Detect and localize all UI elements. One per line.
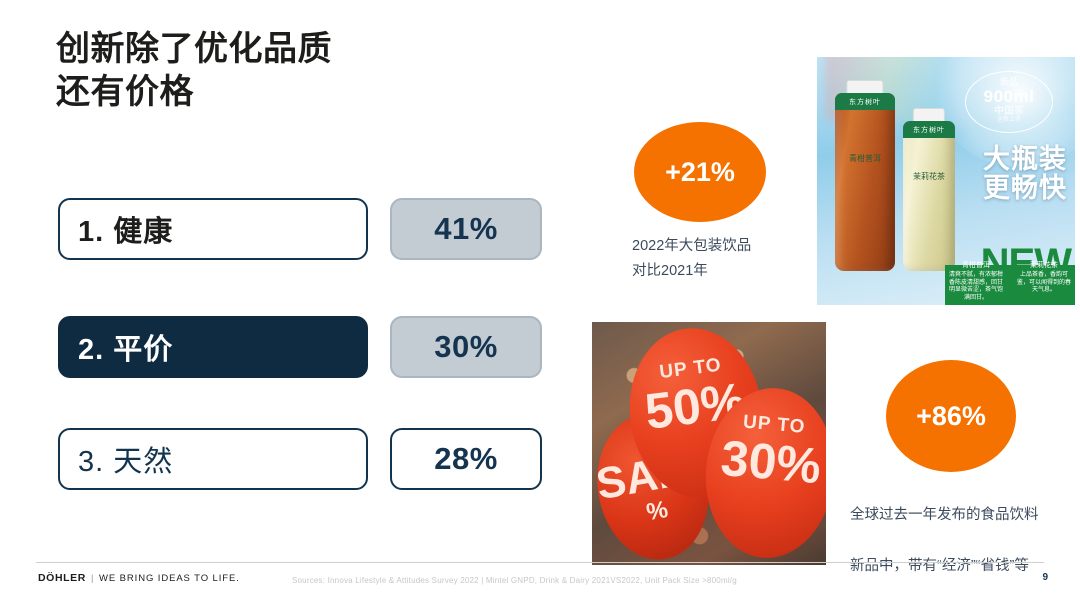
stat-badge-plus86-value: +86% (916, 401, 986, 432)
bottle-cap-icon (846, 80, 883, 94)
tea-footnote-b: 茉莉花茶 上品茶香，香韵可鉴，可以闻得到的春天气息。 (1017, 261, 1071, 303)
bottle-large-pu-erh: 东方树叶 青柑普洱 (835, 93, 895, 271)
tea-footnote-a-title: 青柑普洱 (949, 261, 1003, 270)
tea-badge-volume: 900ml (966, 87, 1052, 106)
tea-footnote-a-text: 清爽不腻，有浓郁柑香陈皮清甜感，回甘明显微苦涩，茶气饱满回甘。 (949, 272, 1003, 303)
bottle-cap-icon (913, 108, 945, 122)
tea-footnote-b-text: 上品茶香，香韵可鉴，可以闻得到的春天气息。 (1017, 272, 1071, 295)
ranking-label-3[interactable]: 3. 天然 (58, 428, 368, 490)
tea-volume-badge: 新品 900ml 中国茶 全新上市 (965, 71, 1053, 133)
stat-badge-plus86: +86% (886, 360, 1016, 472)
brand-mark: DÖHLER (38, 572, 86, 584)
tea-footnotes: 青柑普洱 清爽不腻，有浓郁柑香陈皮清甜感，回甘明显微苦涩，茶气饱满回甘。 茉莉花… (949, 261, 1071, 303)
brand-divider: | (91, 573, 94, 584)
footer-divider (36, 562, 1044, 563)
photo-tea-beverage-ad: 东方树叶 青柑普洱 东方树叶 茉莉花茶 新品 900ml 中国茶 全新上市 大瓶… (817, 57, 1075, 305)
tea-footnote-b-title: 茉莉花茶 (1017, 261, 1071, 270)
tea-badge-new-label: 新品 (966, 77, 1052, 87)
brand-tagline: WE BRING IDEAS TO LIFE. (99, 573, 240, 584)
stat-badge-plus21-value: +21% (665, 157, 735, 188)
page-title: 创新除了优化品质 还有价格 (56, 28, 576, 114)
bottle-a-brand: 东方树叶 (835, 93, 895, 110)
brand-logo: DÖHLER | WE BRING IDEAS TO LIFE. (38, 572, 240, 584)
stat-caption-plus21: 2022年大包装饮品 对比2021年 (632, 234, 822, 285)
ranking-label-1[interactable]: 1. 健康 (58, 198, 368, 260)
tea-slogan: 大瓶装 更畅快 (927, 145, 1067, 203)
bottle-a-flavor: 青柑普洱 (841, 154, 889, 164)
sources-note: Sources: Innova Lifestyle & Attitudes Su… (292, 576, 737, 585)
ranking-label-2[interactable]: 2. 平价 (58, 316, 368, 378)
balloon-30-value: 30% (705, 433, 826, 492)
ranking-percent-1: 41% (390, 198, 542, 260)
tea-badge-sub: 全新上市 (966, 117, 1052, 124)
photo-sale-balloons: SALE % UP TO 50% UP TO 30% (592, 322, 826, 565)
page-number: 9 (1042, 572, 1048, 583)
tea-footnote-a: 青柑普洱 清爽不腻，有浓郁柑香陈皮清甜感，回甘明显微苦涩，茶气饱满回甘。 (949, 261, 1003, 303)
bottle-b-brand: 东方树叶 (903, 121, 955, 138)
stat-caption-plus86-line1: 全球过去一年发布的食品饮料 (850, 503, 1078, 528)
slide-canvas: 创新除了优化品质 还有价格 1. 健康 41% 2. 平价 30% 3. 天然 … (0, 0, 1080, 608)
ranking-percent-3: 28% (390, 428, 542, 490)
ranking-percent-2: 30% (390, 316, 542, 378)
stat-badge-plus21: +21% (634, 122, 766, 222)
stat-caption-plus86: 全球过去一年发布的食品饮料 新品中，带有“经济”“省钱”等 宣称的产品同比增长 (850, 478, 1078, 608)
tea-badge-category: 中国茶 (966, 106, 1052, 117)
